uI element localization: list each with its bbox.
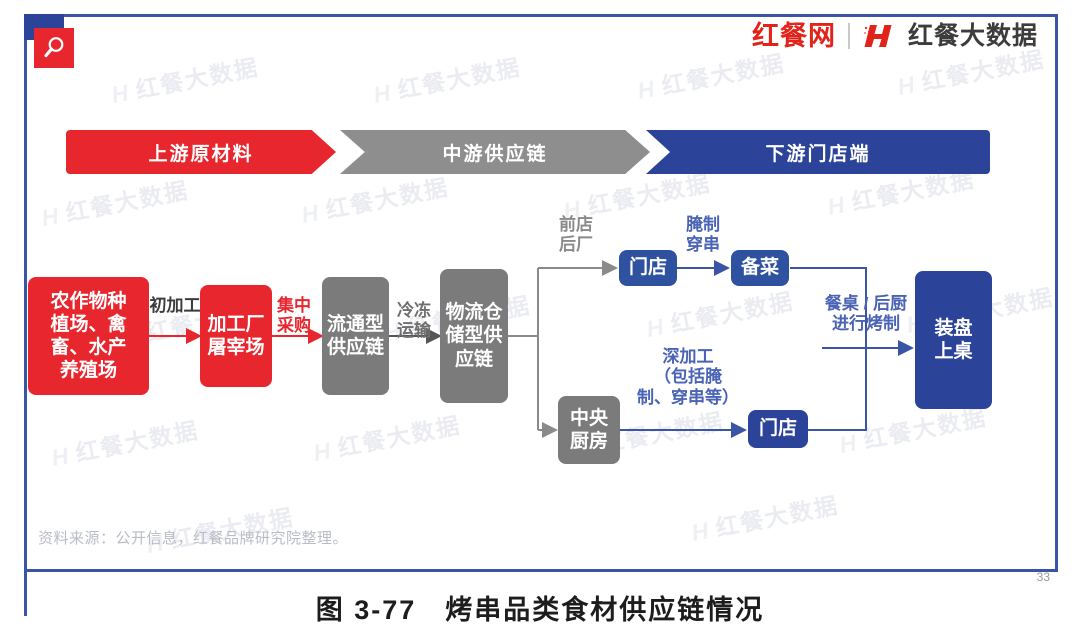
node-factory[interactable]: 加工厂 屠宰场	[200, 285, 272, 387]
edge-label-cold-transport: 冷冻 运输	[386, 301, 442, 342]
node-plate-serve[interactable]: 装盘 上桌	[915, 271, 992, 409]
node-store-front[interactable]: 门店	[619, 250, 677, 286]
node-farm[interactable]: 农作物种 植场、禽 畜、水产 养殖场	[28, 277, 149, 395]
node-circulation-supplychain[interactable]: 流通型 供应链	[322, 277, 389, 395]
edge-label-front-store-back-factory: 前店 后厂	[548, 215, 604, 256]
edge-label-marinate-skewer: 腌制 穿串	[674, 215, 732, 256]
node-store-second[interactable]: 门店	[748, 410, 808, 448]
edge-label-table-kitchen-grill: 餐桌 / 后厨 进行烤制	[812, 294, 920, 335]
slide-page: 红餐网 红餐大数据 H红餐大数据 H红餐大数据 H红餐大数据 H红餐大数据 H红…	[0, 0, 1080, 636]
edge-label-deep-processing: 深加工 （包括腌 制、穿串等）	[633, 347, 743, 408]
figure-caption: 图 3-77 烤串品类食材供应链情况	[0, 588, 1080, 627]
page-number: 33	[1037, 570, 1050, 584]
node-prep-dish[interactable]: 备菜	[731, 250, 789, 286]
node-central-kitchen[interactable]: 中央 厨房	[558, 396, 620, 464]
node-logistics-supplychain[interactable]: 物流仓 储型供 应链	[440, 269, 508, 403]
edge-label-primary-processing: 初加工	[143, 296, 207, 316]
edge-label-centralized-purchase: 集中 采购	[265, 296, 323, 337]
source-note: 资料来源：公开信息，红餐品牌研究院整理。	[38, 527, 348, 548]
